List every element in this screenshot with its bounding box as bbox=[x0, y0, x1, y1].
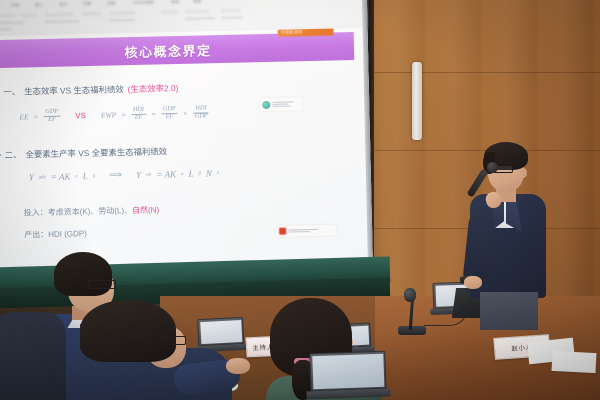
paper-stack-2 bbox=[552, 351, 597, 373]
glasses-icon bbox=[88, 280, 116, 289]
ribbon-tab-5[interactable]: 动画 bbox=[107, 0, 116, 6]
audience-suit-hair bbox=[54, 252, 112, 296]
note-1-accent: 自然(N) bbox=[132, 205, 159, 215]
formula-total-factor: Y gdp = AK α L β ⟹ Y wb = AK α L β N λ bbox=[29, 167, 219, 182]
f2-right-sup3: λ bbox=[217, 170, 219, 175]
ribbon-tab-6[interactable]: 幻灯片放映 bbox=[133, 0, 154, 6]
note-1-label: 投入： bbox=[24, 208, 48, 218]
f1-right-fraction-2: GDP EF bbox=[161, 106, 178, 120]
f2-right-eq: = AK bbox=[156, 169, 176, 179]
f2-left-sub: gdp bbox=[39, 174, 46, 179]
f2-left-y: Y bbox=[29, 172, 34, 182]
ribbon-tab-1[interactable]: 开始 bbox=[11, 3, 20, 9]
laptop-lid bbox=[309, 351, 386, 392]
ribbon-tab-7[interactable]: 审阅 bbox=[171, 0, 180, 5]
slide-note-input: 投入：考虑资本(K)、劳动(L)、自然(N) bbox=[24, 204, 160, 218]
watermark-pill-2 bbox=[276, 224, 336, 236]
f1-left-fraction: GDP EF bbox=[43, 109, 60, 123]
f1-left-lhs: EE bbox=[19, 112, 28, 121]
audience-member-edge bbox=[0, 312, 66, 400]
f1-right-den2: EF bbox=[164, 114, 176, 121]
microphone-icon bbox=[404, 288, 416, 302]
f1-right-eq2: = bbox=[151, 109, 156, 118]
f2-right-mid: L bbox=[188, 168, 193, 178]
slide-bullet-2: 二、 全要素生产率 VS 全要素生态福利绩效 bbox=[0, 145, 167, 161]
projection-screen[interactable]: 文件 开始 插入 设计 切换 动画 幻灯片放映 审阅 视图 bbox=[0, 0, 373, 285]
lecture-hall-photo: 文件 开始 插入 设计 切换 动画 幻灯片放映 审阅 视图 bbox=[0, 0, 600, 400]
f1-right-eq1: = bbox=[121, 110, 126, 119]
f1-times: × bbox=[183, 108, 188, 117]
f1-right-fraction-3: HDI GDP bbox=[193, 105, 210, 119]
f1-right-den3: GDP bbox=[193, 113, 210, 120]
ribbon-tab-8[interactable]: 视图 bbox=[193, 0, 202, 5]
f2-left-sup1: α bbox=[75, 173, 78, 178]
f2-right-sup2: β bbox=[198, 171, 200, 176]
globe-icon bbox=[262, 100, 270, 108]
bullet-1-text: 生态效率 VS 生态福利绩效 bbox=[24, 83, 124, 97]
note-1-plain: 考虑资本(K)、劳动(L)、 bbox=[48, 206, 133, 217]
bullet-1-accent: (生态效率2.0) bbox=[128, 82, 179, 95]
laptop-foreground[interactable] bbox=[305, 351, 391, 400]
slide-canvas[interactable]: 核心概念界定 一、 生态效率 VS 生态福利绩效 (生态效率2.0) EE = … bbox=[0, 28, 373, 269]
handheld-microphone-icon bbox=[487, 162, 498, 173]
laptop-screen bbox=[312, 353, 384, 388]
f1-right-den1: EF bbox=[133, 114, 145, 121]
glasses-icon bbox=[160, 336, 186, 345]
wall-speaker-icon bbox=[412, 62, 422, 140]
bullet-2-marker: 二、 bbox=[5, 149, 22, 161]
presenter-hand-lower bbox=[464, 276, 482, 289]
note-2-label: 产出： bbox=[24, 230, 48, 240]
f1-left-eq: = bbox=[33, 112, 38, 121]
ribbon-tab-3[interactable]: 设计 bbox=[59, 1, 68, 7]
watermark-bars-icon-2 bbox=[288, 229, 318, 233]
audience-member-front bbox=[62, 300, 252, 400]
f1-right-lhs: EWP bbox=[101, 110, 116, 119]
bullet-dot-icon bbox=[0, 154, 1, 157]
watermark-orange-banner: 中国能源网 bbox=[278, 28, 334, 37]
formula-eco-efficiency: EE = GDP EF VS EWP = HDI EF = GDP EF × bbox=[19, 105, 209, 123]
f1-vs-label: VS bbox=[75, 111, 86, 120]
f1-right-fraction-1: HDI EF bbox=[131, 107, 146, 121]
f2-right-tail: N bbox=[206, 168, 212, 178]
slide-note-output: 产出：HDI (GDP) bbox=[24, 228, 87, 240]
f2-left-sup2: β bbox=[93, 173, 95, 178]
watermark-bars-icon bbox=[272, 101, 294, 106]
red-badge-icon bbox=[279, 228, 286, 235]
laptop-base bbox=[307, 389, 391, 400]
ribbon-tab-2[interactable]: 插入 bbox=[35, 2, 44, 8]
watermark-pill bbox=[259, 97, 303, 111]
f2-arrow-icon: ⟹ bbox=[109, 169, 122, 180]
bullet-2-text: 全要素生产率 VS 全要素生态福利绩效 bbox=[25, 145, 167, 160]
f2-left-mid: L bbox=[83, 171, 88, 181]
presenter-trousers bbox=[480, 292, 538, 330]
presenter bbox=[462, 140, 554, 325]
f1-left-den: EF bbox=[46, 116, 58, 123]
audience-front-hair bbox=[80, 300, 176, 362]
audience-edge-body bbox=[0, 312, 66, 400]
watermark-banner-text: 中国能源网 bbox=[281, 29, 303, 35]
slide-title: 核心概念界定 bbox=[124, 40, 211, 61]
ribbon-tab-4[interactable]: 切换 bbox=[83, 1, 92, 7]
f2-right-sup1: α bbox=[181, 171, 184, 176]
note-2-plain: HDI (GDP) bbox=[48, 229, 87, 239]
f2-right-sub: wb bbox=[146, 172, 151, 177]
bullet-1-marker: 一、 bbox=[3, 86, 20, 98]
f2-right-y: Y bbox=[136, 169, 141, 179]
f2-left-eq: = AK bbox=[51, 171, 71, 181]
slide-title-bar: 核心概念界定 bbox=[0, 32, 354, 68]
audience-front-hand bbox=[226, 358, 250, 374]
presenter-ear bbox=[520, 168, 527, 178]
slide-bullet-1: 一、 生态效率 VS 生态福利绩效 (生态效率2.0) bbox=[0, 82, 179, 98]
